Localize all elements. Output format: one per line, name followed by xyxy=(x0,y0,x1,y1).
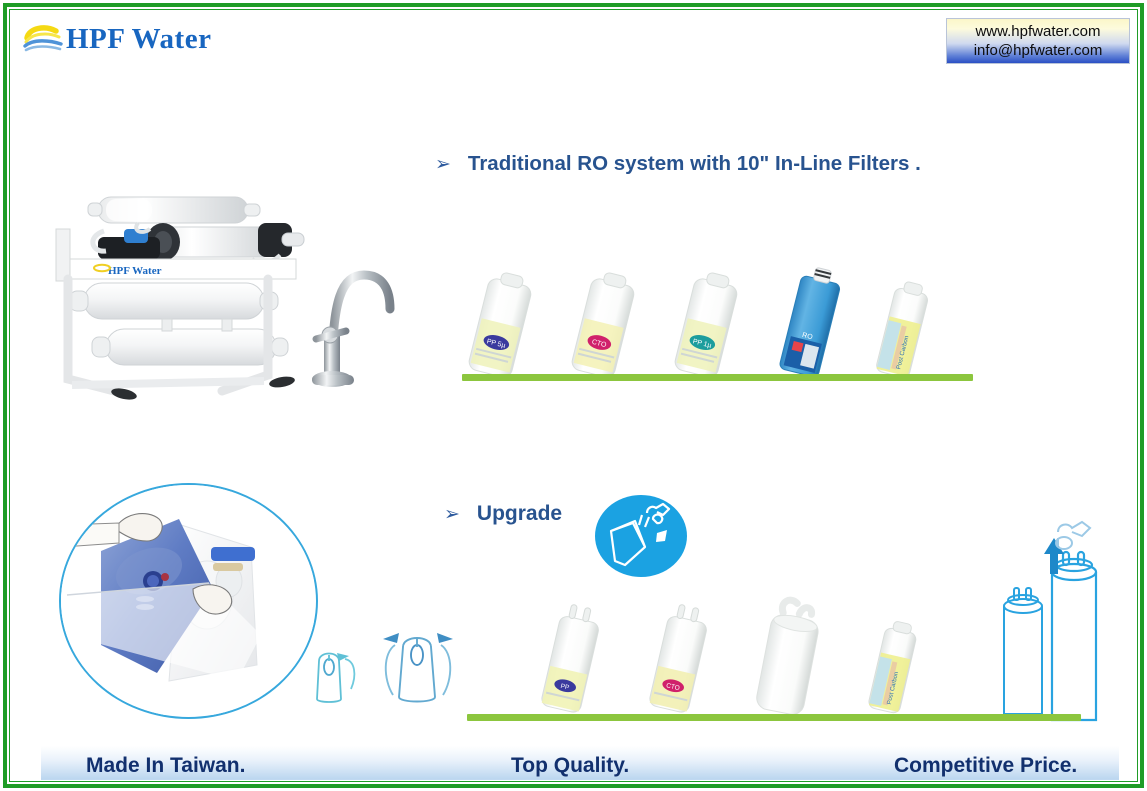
water-purifier-photo xyxy=(59,483,318,719)
upgraded-cartridge-outline xyxy=(1052,552,1096,720)
sun-wave-logo-icon xyxy=(23,22,65,56)
section-upgrade-heading: ➢ Upgrade xyxy=(444,502,562,526)
traditional-baseline xyxy=(462,374,973,381)
cartridge-rotate-small-icon xyxy=(307,641,369,707)
upgrade-filter-row: PP CTO xyxy=(541,603,981,719)
quick-change-cartridge-icon xyxy=(595,495,687,577)
slide-canvas: HPF Water www.hpfwater.com info@hpfwater… xyxy=(11,11,1136,780)
cartridge-rotate-large-icon xyxy=(375,623,461,707)
brand-logo: HPF Water xyxy=(23,19,211,59)
svg-text:HPF Water: HPF Water xyxy=(108,265,162,277)
section-traditional-heading: ➢ Traditional RO system with 10" In-Line… xyxy=(435,152,921,176)
banner-competitive-price: Competitive Price. xyxy=(894,754,1077,778)
bullet-arrow-icon: ➢ xyxy=(435,155,451,174)
section-upgrade-heading-text: Upgrade xyxy=(477,502,562,526)
traditional-filter-row: PP 5µ CTO xyxy=(466,273,986,381)
contact-email[interactable]: info@hpfwater.com xyxy=(974,41,1103,60)
bottom-banner: Made In Taiwan. Top Quality. Competitive… xyxy=(41,746,1119,780)
slide-root: HPF Water www.hpfwater.com info@hpfwater… xyxy=(0,0,1147,791)
quick-connect-fitting-icon xyxy=(1056,522,1090,549)
contact-website[interactable]: www.hpfwater.com xyxy=(975,22,1100,41)
ro-system-image: HPF Water xyxy=(46,179,421,414)
section-traditional-heading-text: Traditional RO system with 10" In-Line F… xyxy=(468,152,921,176)
upgrade-cylinder-diagram xyxy=(996,516,1106,724)
upgrade-baseline xyxy=(467,714,1081,721)
contact-info-box: www.hpfwater.com info@hpfwater.com xyxy=(946,18,1130,64)
banner-made-in-taiwan: Made In Taiwan. xyxy=(86,754,245,778)
bullet-arrow-icon: ➢ xyxy=(444,505,460,524)
brand-logo-text: HPF Water xyxy=(66,23,211,56)
standard-cartridge-outline xyxy=(1004,588,1042,714)
banner-top-quality: Top Quality. xyxy=(511,754,629,778)
